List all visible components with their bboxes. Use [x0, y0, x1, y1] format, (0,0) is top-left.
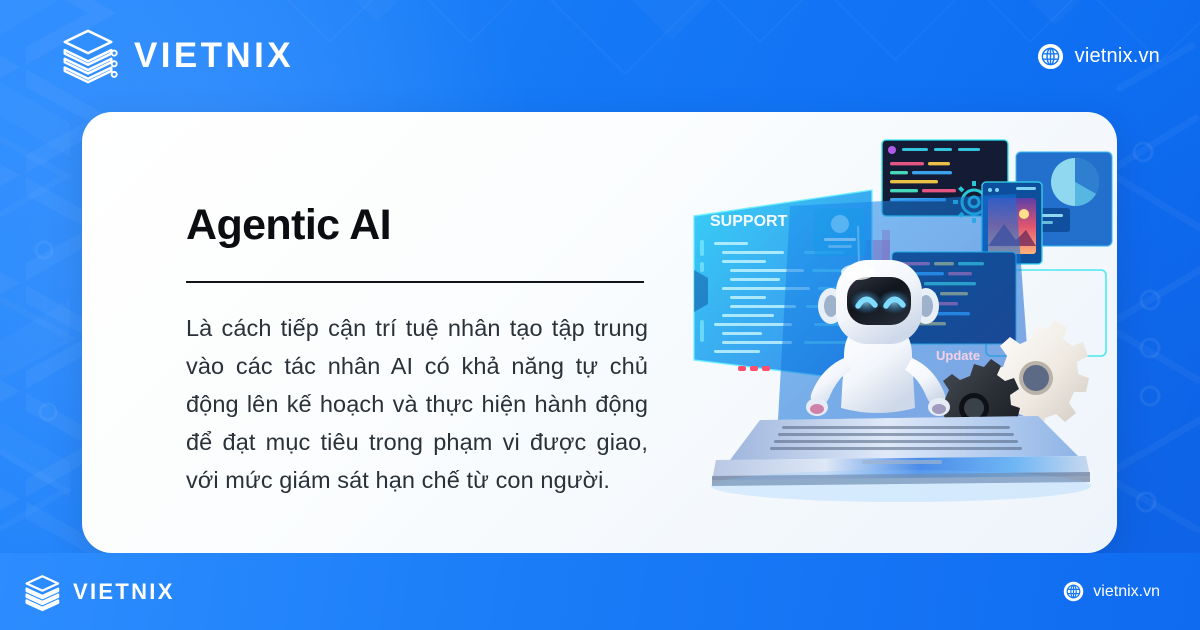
footer-brand[interactable]: VIETNIX: [22, 571, 175, 613]
support-panel-label: SUPPORT: [710, 213, 788, 230]
stacked-layers-logo-icon: [58, 25, 120, 87]
update-panel-label: Update: [936, 348, 980, 363]
status-dots: [738, 366, 770, 371]
footer-brand-wordmark: VIETNIX: [73, 579, 175, 605]
page-header: VIETNIX vietnix.vn: [0, 0, 1200, 112]
header-website-link[interactable]: vietnix.vn: [1037, 43, 1160, 70]
footer-website-link[interactable]: vietnix.vn: [1063, 581, 1160, 602]
page-title: Agentic AI: [186, 204, 672, 247]
card-description: Là cách tiếp cận trí tuệ nhân tạo tập tr…: [186, 309, 648, 499]
page-footer: VIETNIX vietnix.vn: [0, 553, 1200, 630]
title-divider: [186, 281, 644, 283]
stacked-layers-logo-icon: [22, 571, 64, 613]
content-card: Agentic AI Là cách tiếp cận trí tuệ nhân…: [82, 112, 1117, 553]
globe-icon: [1037, 43, 1064, 70]
card-text-column: Agentic AI Là cách tiếp cận trí tuệ nhân…: [82, 112, 672, 553]
footer-website-label: vietnix.vn: [1093, 583, 1160, 601]
header-brand[interactable]: VIETNIX: [58, 25, 294, 87]
globe-icon: [1063, 581, 1084, 602]
ai-robot-laptop-illustration: SUPPORT: [686, 120, 1117, 550]
brand-wordmark: VIETNIX: [134, 36, 294, 76]
header-website-label: vietnix.vn: [1075, 45, 1160, 68]
